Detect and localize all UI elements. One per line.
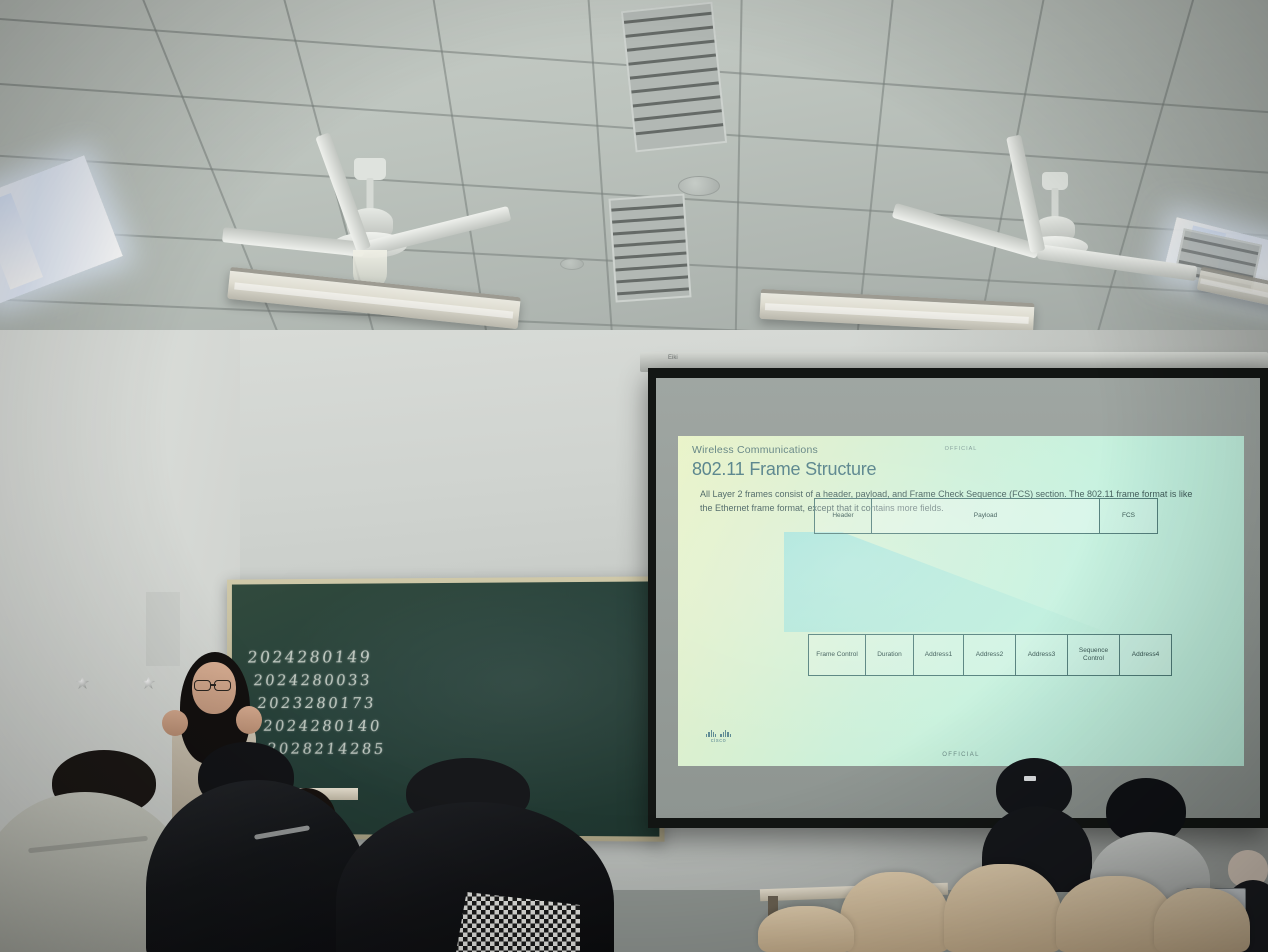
ceiling-vent-lower [608, 193, 691, 302]
cisco-logo: cisco [706, 730, 731, 744]
frame-detail-row: Frame Control Duration Address1 Address2… [808, 634, 1172, 676]
frame-top-row: Header Payload FCS [814, 498, 1158, 534]
slide-classification-top: OFFICIAL [678, 446, 1244, 452]
instructor-hand-left [162, 710, 188, 736]
chalk-line: 2024280140 [262, 719, 386, 734]
student-torso [146, 780, 368, 952]
light-fixture-right [759, 289, 1034, 333]
frame-box-frame-control: Frame Control [808, 634, 866, 676]
frame-box-address1: Address1 [914, 634, 964, 676]
instructor-hand-right [236, 706, 262, 734]
cisco-logo-text: cisco [706, 738, 731, 744]
seat[interactable] [1154, 888, 1250, 952]
slide-title: 802.11 Frame Structure [692, 459, 876, 480]
instructor-glasses-bridge [210, 684, 216, 686]
seat[interactable] [840, 872, 950, 952]
ceiling-speaker-secondary [560, 258, 584, 270]
slide-classification-bottom: OFFICIAL [678, 752, 1244, 758]
ceiling-speaker [678, 176, 720, 196]
frame-box-payload: Payload [872, 498, 1100, 534]
frame-box-fcs: FCS [1100, 498, 1158, 534]
frame-box-address3: Address3 [1016, 634, 1068, 676]
slide-content: Wireless Communications OFFICIAL 802.11 … [678, 436, 1244, 766]
frame-box-address4: Address4 [1120, 634, 1172, 676]
frame-box-header: Header [814, 498, 872, 534]
frame-box-address2: Address2 [964, 634, 1016, 676]
seat[interactable] [944, 864, 1062, 952]
ceiling-fan-left [300, 158, 440, 288]
chalk-line: 2028214285 [266, 742, 386, 757]
ceiling-light-panel-left [0, 155, 123, 305]
instructor-glasses [214, 680, 231, 691]
ceiling [0, 0, 1268, 372]
frame-box-sequence-control: Sequence Control [1068, 634, 1120, 676]
cisco-logo-bars [706, 730, 731, 737]
frame-box-duration: Duration [866, 634, 914, 676]
projection-screen: Wireless Communications OFFICIAL 802.11 … [648, 368, 1268, 828]
ceiling-fan-right [980, 172, 1130, 292]
student-plaid-scarf [336, 764, 614, 952]
instructor-glasses [194, 680, 211, 691]
classroom-photo: 2024280149 2024280033 2023280173 2024280… [0, 0, 1268, 952]
student-black-hood [146, 756, 368, 952]
ceiling-vent-upper [621, 2, 727, 153]
cap-logo [1024, 776, 1036, 781]
frame-connector-shape [784, 532, 1106, 632]
seat[interactable] [758, 906, 854, 952]
projector-brand-label: Eiki [668, 355, 678, 361]
